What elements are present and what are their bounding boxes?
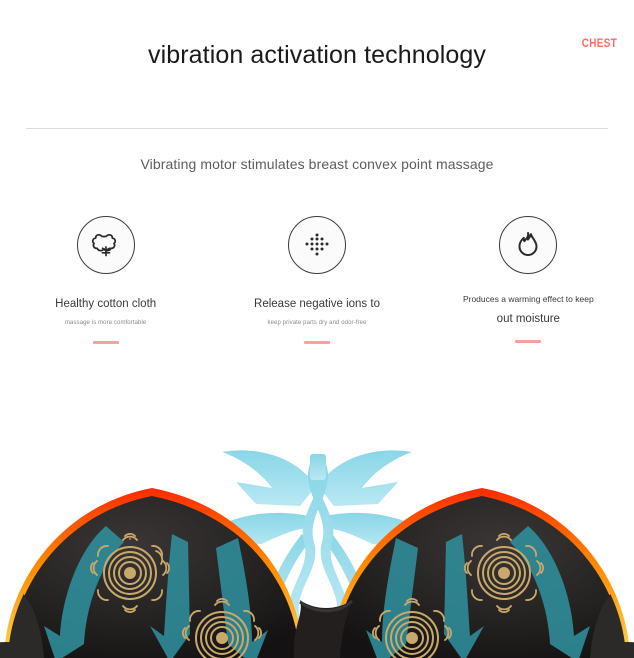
feature-title: Release negative ions to [254,293,380,315]
page-subtitle: Vibrating motor stimulates breast convex… [0,156,634,172]
feature-subtext: out moisture [497,310,560,328]
right-cup [330,488,634,658]
header-divider [26,128,608,129]
feature-title: Healthy cotton cloth [55,293,156,315]
feature-item-negative-ions: Release negative ions to keep private pa… [211,216,422,344]
feature-list: Healthy cotton cloth massage is more com… [0,216,634,344]
flame-icon [499,216,557,274]
feature-accent-dash [304,341,330,344]
bra-illustration-svg [0,430,634,658]
feature-item-cotton: Healthy cotton cloth massage is more com… [0,216,211,344]
vibration-bra-diagram [0,430,634,658]
product-feature-page: CHEST vibration activation technology Vi… [0,0,634,658]
cotton-flower-icon [77,216,135,274]
feature-subtext: keep private parts dry and odor-free [267,319,366,329]
feature-title: Produces a warming effect to keep [463,293,594,307]
feature-accent-dash [515,340,541,343]
left-cup [0,488,304,658]
feature-accent-dash [93,341,119,344]
page-title: vibration activation technology [0,41,634,70]
negative-ion-dots-icon [288,216,346,274]
feature-item-warming: Produces a warming effect to keep out mo… [423,216,634,344]
feature-subtext: massage is more comfortable [65,319,146,329]
